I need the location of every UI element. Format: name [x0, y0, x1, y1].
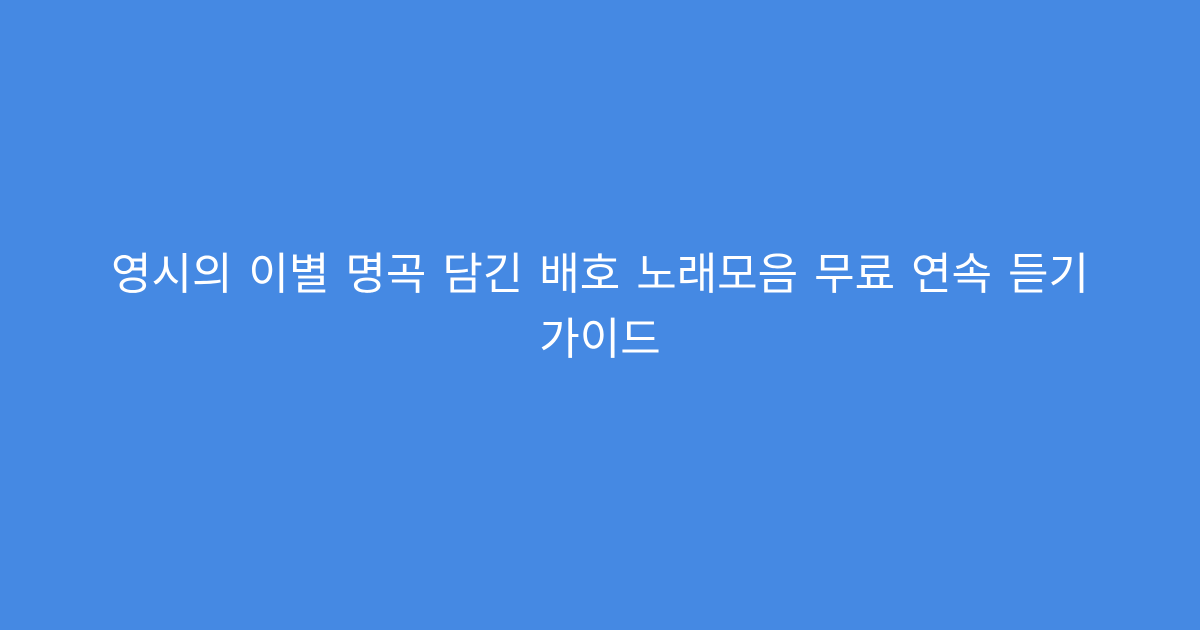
page-title: 영시의 이별 명곡 담긴 배호 노래모음 무료 연속 듣기 가이드 — [95, 242, 1105, 372]
title-block: 영시의 이별 명곡 담긴 배호 노래모음 무료 연속 듣기 가이드 — [95, 242, 1105, 372]
social-share-card: 영시의 이별 명곡 담긴 배호 노래모음 무료 연속 듣기 가이드 — [0, 0, 1200, 630]
